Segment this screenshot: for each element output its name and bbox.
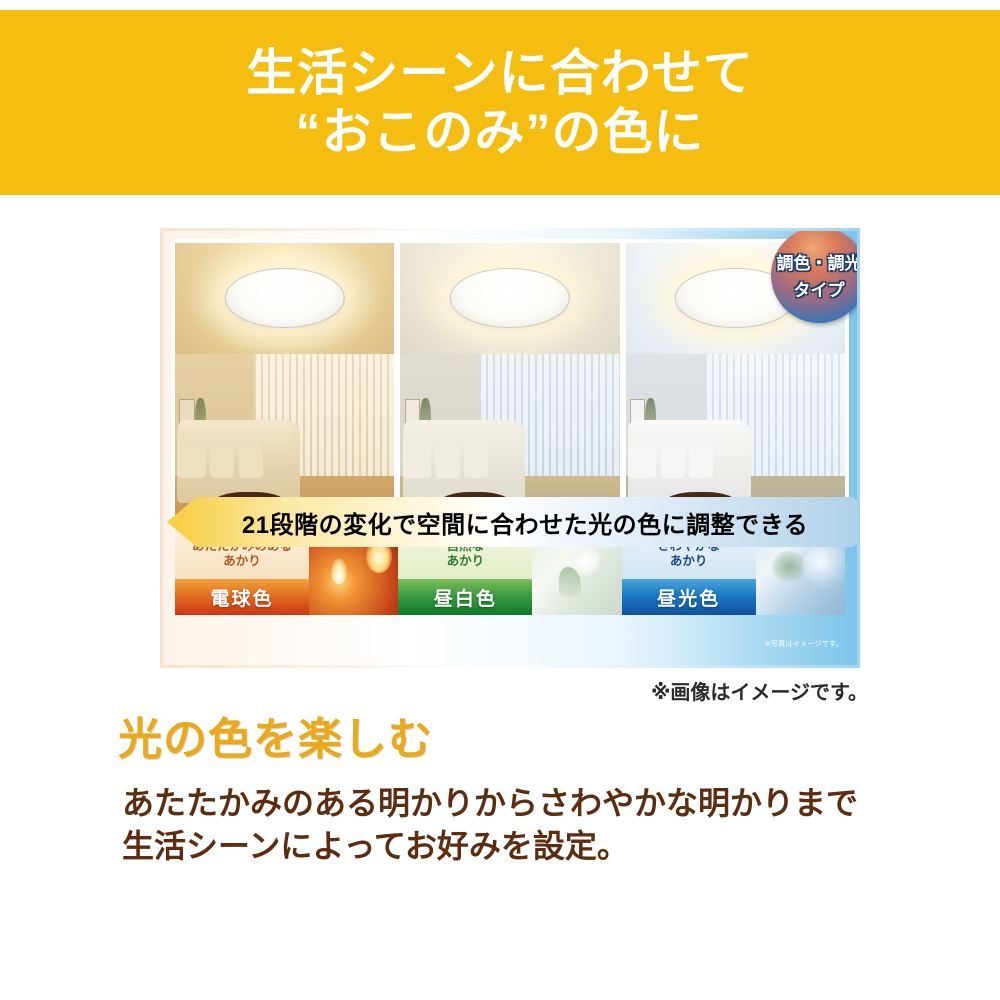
body-copy-line1: あたたかみのある明かりからさわやかな明かりまで [122,782,858,825]
swatch-caption-line2: あかり [447,554,485,569]
header-banner: 生活シーンに合わせて “おこのみ”の色に [0,10,1000,195]
badge-label-line2: タイプ [794,276,845,301]
photo-disclaimer: ※写真はイメージです。 [765,639,843,649]
swatch-tone-label: 昼光色 [657,584,720,611]
room-scene-warm [175,243,394,520]
swatch-tone-day: 昼光色 [622,579,756,615]
banner-headline-line2: “おこのみ”の色に [296,103,705,162]
swatch-tone-label: 電球色 [210,584,273,611]
room-scene-neutral [400,243,619,520]
pillow [407,442,431,478]
product-image-inner: 調色・調光 タイプ [163,231,857,665]
swatch-tone-bulb: 電球色 [175,579,309,615]
room-scenes-row: 21段階の変化で空間に合わせた光の色に調整できる [171,239,849,524]
adjustment-arrow-banner: 21段階の変化で空間に合わせた光の色に調整できる [167,497,857,547]
pillow [632,442,656,478]
section-heading: 光の色を楽しむ [118,703,433,767]
pillow [661,442,685,478]
swatch-caption-line2: あかり [670,554,708,569]
pillow [464,442,488,478]
pillow [210,442,234,478]
pillow [239,442,263,478]
pillow [182,442,206,478]
banner-headline-line1: 生活シーンに合わせて [246,44,754,103]
pillow [435,442,459,478]
ceiling-light-icon [224,268,344,328]
body-copy-line2: 生活シーンによってお好みを設定。 [122,825,858,868]
ceiling-light-icon [450,268,570,328]
section-body-copy: あたたかみのある明かりからさわやかな明かりまで 生活シーンによってお好みを設定。 [122,782,858,867]
pillow [689,442,713,478]
swatch-caption-line2: あかり [223,554,261,569]
product-image-card: 調色・調光 タイプ [160,228,860,668]
image-disclaimer: ※画像はイメージです。 [651,676,868,705]
swatch-tone-label: 昼白色 [434,584,497,611]
arrow-banner-text: 21段階の変化で空間に合わせた光の色に調整できる [242,505,808,540]
badge-label-line1: 調色・調光 [777,249,858,274]
swatch-tone-white: 昼白色 [398,579,532,615]
double-arrow-icon: 21段階の変化で空間に合わせた光の色に調整できる [167,497,857,547]
card-footer-strip: ※写真はイメージです。 [163,623,857,665]
